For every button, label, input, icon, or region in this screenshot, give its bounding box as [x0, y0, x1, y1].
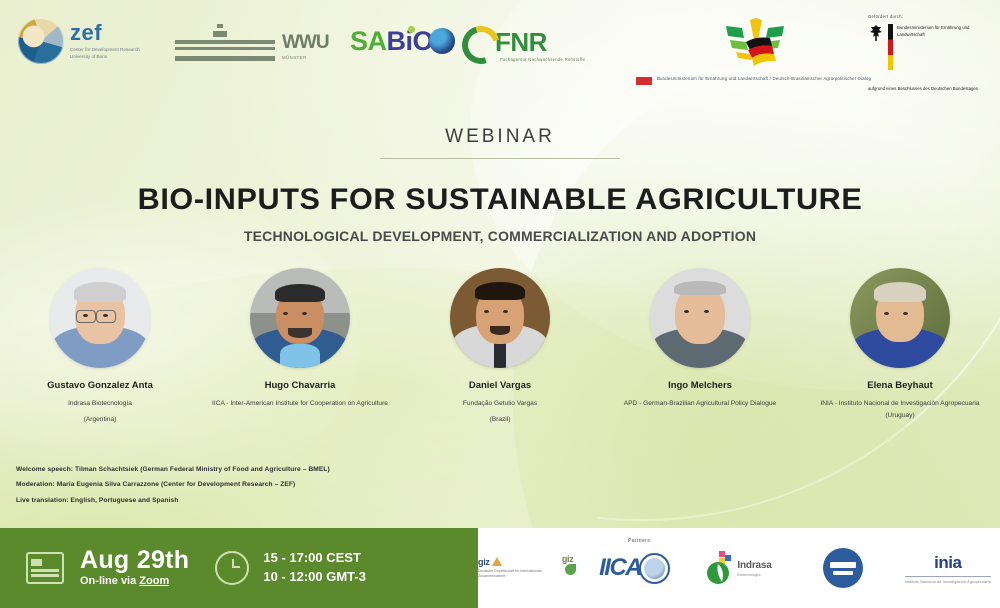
- partners-bar: Partners: giz Deutsche Gesellschaft für …: [478, 528, 1000, 608]
- speaker-card: Gustavo Gonzalez Anta Indrasa Biotecnolo…: [5, 268, 195, 425]
- wwu-subtitle: MÜNSTER: [282, 55, 329, 60]
- bmel-logo: Gefördert durch: Bundesministerium für E…: [868, 14, 994, 93]
- avatar: [850, 268, 950, 368]
- note-welcome-speech: Welcome speech: Tilman Schachtsiek (Germ…: [16, 462, 656, 477]
- note-live-translation: Live translation: English, Portuguese an…: [16, 493, 656, 508]
- giz-wordmark: giz: [478, 557, 490, 567]
- fnr-wordmark: FNR: [495, 29, 585, 55]
- footnotes: Welcome speech: Tilman Schachtsiek (Germ…: [16, 462, 656, 508]
- german-brazilian-dialogue-logo: Bundesministerium für Ernährung und Land…: [636, 16, 876, 85]
- speaker-org: INIA - Instituto Nacional de Investigaci…: [805, 398, 995, 421]
- clock-icon: [215, 551, 249, 585]
- avatar: [50, 268, 150, 368]
- sabio-word-green: SA: [350, 26, 387, 56]
- speaker-name: Daniel Vargas: [405, 380, 595, 392]
- speaker-name: Hugo Chavarria: [205, 380, 395, 392]
- partner-logo-indrasa: Indrasa Biotecnología: [687, 544, 791, 592]
- fnr-subtitle: Fachagentur Nachwachsende Rohstoffe: [500, 57, 585, 62]
- zef-logo: zef Center for Development Research Univ…: [18, 18, 156, 64]
- event-time-cest: 15 - 17:00 CEST: [263, 549, 366, 568]
- zoom-link[interactable]: Zoom: [139, 575, 169, 587]
- speaker-card: Daniel Vargas Fundação Getulio Vargas (B…: [405, 268, 595, 425]
- webinar-poster: zef Center for Development Research Univ…: [0, 0, 1000, 608]
- speaker-org: APD - German-Brazilian Agricultural Poli…: [605, 398, 795, 410]
- event-date: Aug 29th: [80, 547, 189, 573]
- speaker-card: Ingo Melchers APD - German-Brazilian Agr…: [605, 268, 795, 414]
- speaker-card: Hugo Chavarria IICA - Inter-American Ins…: [205, 268, 395, 414]
- dialogue-red-bar-icon: [636, 77, 652, 85]
- wwu-wordmark: WWU: [282, 33, 329, 52]
- speaker-country: (Brazil): [405, 414, 595, 426]
- event-time-gmt3: 10 - 12:00 GMT-3: [263, 568, 366, 587]
- partner-logo-embrapa: [791, 544, 895, 592]
- avatar: [650, 268, 750, 368]
- fnr-logo: FNR Fachagentur Nachwachsende Rohstoffe: [462, 26, 585, 64]
- partners-caption: Partners:: [628, 538, 652, 544]
- speaker-org: IICA - Inter-American Institute for Coop…: [205, 398, 395, 410]
- date-time-bar: Aug 29th On-line via Zoom 15 - 17:00 CES…: [0, 528, 478, 608]
- indrasa-wordmark: Indrasa: [737, 560, 771, 571]
- speaker-org: Indrasa Biotecnología: [5, 398, 195, 410]
- speaker-name: Elena Beyhaut: [805, 380, 995, 392]
- zef-wordmark: zef: [70, 22, 156, 44]
- page-subtitle: TECHNOLOGICAL DEVELOPMENT, COMMERCIALIZA…: [0, 228, 1000, 244]
- zef-subtitle: Center for Development Research Universi…: [70, 47, 156, 61]
- dialogue-caption: Bundesministerium für Ernährung und Land…: [657, 76, 871, 83]
- speaker-name: Gustavo Gonzalez Anta: [5, 380, 195, 392]
- giz-triangle-icon: [492, 557, 502, 566]
- calendar-icon: [26, 552, 64, 584]
- speaker-name: Ingo Melchers: [605, 380, 795, 392]
- iica-seal-icon: [639, 553, 670, 584]
- embrapa-circle-icon: [823, 548, 863, 588]
- inia-divider: [905, 576, 991, 577]
- inia-subtitle: Instituto Nacional de Investigación Agro…: [905, 580, 991, 584]
- inia-wordmark: inia: [905, 553, 991, 573]
- event-mode: On-line via Zoom: [80, 574, 189, 589]
- partner-logo-giz: giz Deutsche Gesellschaft für Internatio…: [478, 544, 582, 592]
- indrasa-subtitle: Biotecnología: [737, 573, 771, 577]
- bmel-footer: aufgrund eines Beschlusses des Deutschen…: [868, 86, 994, 93]
- speakers-row: Gustavo Gonzalez Anta Indrasa Biotecnolo…: [0, 268, 1000, 425]
- avatar: [450, 268, 550, 368]
- dialogue-emblem-icon: [720, 16, 792, 72]
- indrasa-mark-icon: [706, 551, 732, 585]
- wwu-crest-icon: [175, 24, 275, 68]
- zef-globe-icon: [18, 18, 64, 64]
- giz-leaf-icon: [565, 564, 576, 575]
- speaker-country: (Argentina): [5, 414, 195, 426]
- german-flag-icon: [888, 24, 893, 70]
- avatar: [250, 268, 350, 368]
- federal-eagle-icon: [868, 24, 884, 42]
- kicker-webinar: WEBINAR: [0, 126, 1000, 148]
- sabio-logo: SABiO: [350, 28, 455, 55]
- title-divider: [380, 158, 620, 159]
- speaker-org: Fundação Getulio Vargas: [405, 398, 595, 410]
- wwu-logo: WWU MÜNSTER: [175, 24, 329, 68]
- sabio-dot-icon: [408, 26, 415, 33]
- giz-subtitle: Deutsche Gesellschaft für Internationale…: [478, 569, 552, 580]
- iica-wordmark: IICA: [599, 554, 641, 582]
- event-mode-prefix: On-line via: [80, 575, 139, 587]
- top-logo-bar: zef Center for Development Research Univ…: [0, 0, 1000, 118]
- speaker-card: Elena Beyhaut INIA - Instituto Nacional …: [805, 268, 995, 425]
- partner-logo-inia: inia Instituto Nacional de Investigación…: [896, 544, 1000, 592]
- bmel-ministry-name: Bundesministerium für Ernährung und Land…: [897, 24, 994, 38]
- sabio-globe-icon: [429, 28, 455, 54]
- page-title: BIO-INPUTS FOR SUSTAINABLE AGRICULTURE: [0, 183, 1000, 217]
- bmel-caption: Gefördert durch:: [868, 14, 994, 19]
- note-moderation: Moderation: Maria Eugenia Silva Carrazzo…: [16, 477, 656, 492]
- partner-logo-iica: IICA: [582, 544, 686, 592]
